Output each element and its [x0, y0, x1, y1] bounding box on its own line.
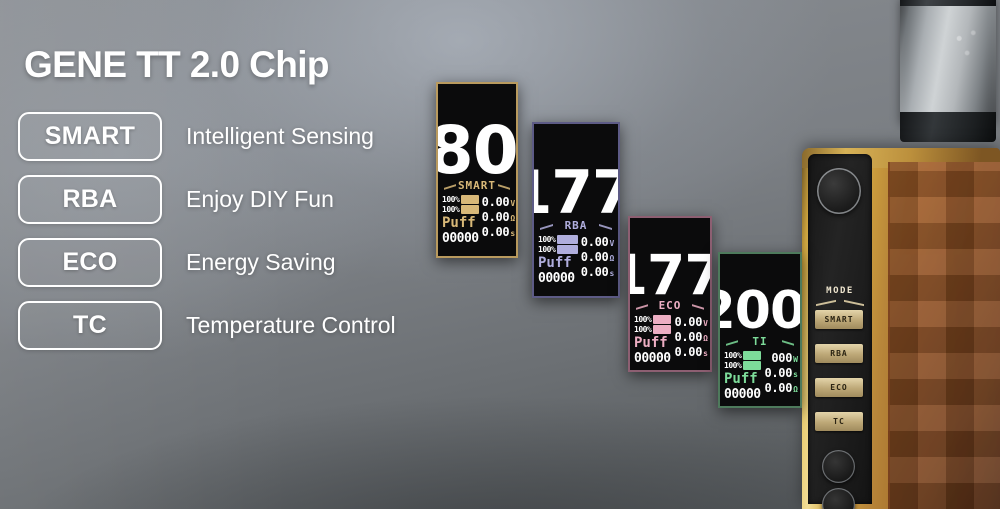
- battery-bar-bottom-rba: [557, 245, 577, 254]
- battery-pct-bottom-tc: 100%: [724, 361, 741, 370]
- feature-pill-eco[interactable]: ECO: [18, 238, 162, 287]
- battery-row-top-eco: 100%: [634, 315, 671, 324]
- readout-time-rba: 0.00s: [581, 265, 614, 279]
- readout-voltage-rba: 0.00V: [581, 235, 614, 249]
- feature-panel: GENE TT 2.0 Chip SMART Intelligent Sensi…: [18, 44, 488, 364]
- readout-voltage-smart: 0.00V: [482, 195, 515, 209]
- stats-tc: 100% 100% Puff 00000 000W 0.00s 0.00Ω: [720, 350, 800, 406]
- battery-pct-bottom-rba: 100%: [538, 245, 555, 254]
- battery-row-top-smart: 100%: [442, 195, 479, 204]
- readout-resistance-smart: 0.00Ω: [482, 210, 515, 224]
- battery-bar-top-tc: [743, 351, 761, 360]
- wattage-value-eco: 177: [628, 252, 712, 298]
- control-panel: MODE SMART RBA ECO TC: [808, 154, 872, 504]
- battery-pct-top-smart: 100%: [442, 195, 459, 204]
- wattage-area-eco: 177 W: [630, 218, 710, 298]
- mode-button-eco[interactable]: ECO: [815, 378, 863, 397]
- readout-voltage-eco: 0.00V: [674, 315, 707, 329]
- feature-desc-tc: Temperature Control: [186, 312, 396, 339]
- readout-power-tc: 000W: [771, 351, 797, 365]
- puff-count-smart: 00000: [442, 232, 479, 246]
- puff-count-rba: 00000: [538, 272, 578, 286]
- readout-resistance-eco: 0.00Ω: [674, 330, 707, 344]
- feature-desc-rba: Enjoy DIY Fun: [186, 186, 334, 213]
- feature-pill-tc[interactable]: TC: [18, 301, 162, 350]
- wattage-area-rba: 177 W: [534, 124, 618, 218]
- feature-row-tc: TC Temperature Control: [18, 301, 488, 350]
- feature-row-eco: ECO Energy Saving: [18, 238, 488, 287]
- device-screen-tc: 200 °F TI 100% 100% Puff 00000 000W 0.00…: [718, 252, 802, 408]
- mode-divider: [816, 300, 864, 306]
- device-body: VOOPOO MODE SMART RBA ECO TC: [802, 148, 1000, 509]
- feature-desc-eco: Energy Saving: [186, 249, 336, 276]
- temperature-area-tc: 200 °F: [720, 254, 800, 334]
- feature-desc-smart: Intelligent Sensing: [186, 123, 374, 150]
- battery-row-bottom-tc: 100%: [724, 361, 761, 370]
- feature-pill-smart[interactable]: SMART: [18, 112, 162, 161]
- device-screen-rba: 177 W RBA 100% 100% Puff 00000 0.00V 0.0…: [532, 122, 620, 298]
- readout-resistance-rba: 0.00Ω: [581, 250, 614, 264]
- tank-atomizer: [900, 0, 996, 122]
- page-title: GENE TT 2.0 Chip: [24, 44, 488, 86]
- battery-row-bottom-eco: 100%: [634, 325, 671, 334]
- battery-bar-bottom-smart: [461, 205, 478, 214]
- mode-button-rba[interactable]: RBA: [815, 344, 863, 363]
- puff-label-rba: Puff: [538, 256, 578, 271]
- feature-row-smart: SMART Intelligent Sensing: [18, 112, 488, 161]
- battery-bar-top-rba: [557, 235, 577, 244]
- puff-label-smart: Puff: [442, 216, 479, 231]
- device-screen-eco: 177 W ECO 100% 100% Puff 00000 0.00V 0.0…: [628, 216, 712, 372]
- battery-row-bottom-smart: 100%: [442, 205, 479, 214]
- stats-eco: 100% 100% Puff 00000 0.00V 0.00Ω 0.00s: [630, 314, 710, 370]
- device-screen-smart: 80 W SMART 100% 100% Puff 00000 0.00V 0.…: [436, 82, 518, 258]
- mode-banner-rba: RBA: [538, 219, 614, 232]
- readout-time-smart: 0.00s: [482, 225, 515, 239]
- fire-button[interactable]: [817, 168, 861, 214]
- readout-resistance-tc: 0.00Ω: [764, 381, 797, 395]
- promo-banner: GENE TT 2.0 Chip SMART Intelligent Sensi…: [0, 0, 1000, 509]
- battery-bar-top-smart: [461, 195, 478, 204]
- battery-row-top-tc: 100%: [724, 351, 761, 360]
- battery-bar-bottom-tc: [743, 361, 761, 370]
- mode-button-smart[interactable]: SMART: [815, 310, 863, 329]
- mode-banner-smart: SMART: [442, 179, 512, 192]
- battery-pct-top-tc: 100%: [724, 351, 741, 360]
- mode-button-tc[interactable]: TC: [815, 412, 863, 431]
- tank-etching-icon: [946, 16, 990, 72]
- adjust-up-button[interactable]: [822, 450, 855, 483]
- vape-device: VOOPOO MODE SMART RBA ECO TC: [800, 0, 1000, 509]
- feature-row-rba: RBA Enjoy DIY Fun: [18, 175, 488, 224]
- temperature-value-tc: 200: [718, 290, 802, 334]
- mode-banner-eco: ECO: [634, 299, 706, 312]
- resin-panel: [888, 162, 1000, 509]
- readout-time-tc: 0.00s: [764, 366, 797, 380]
- battery-row-top-rba: 100%: [538, 235, 578, 244]
- mode-banner-tc: TI: [724, 335, 796, 348]
- puff-label-tc: Puff: [724, 372, 761, 387]
- battery-row-bottom-rba: 100%: [538, 245, 578, 254]
- battery-bar-bottom-eco: [653, 325, 671, 334]
- battery-pct-bottom-smart: 100%: [442, 205, 459, 214]
- battery-pct-top-eco: 100%: [634, 315, 651, 324]
- mode-panel-label: MODE: [808, 286, 872, 296]
- battery-pct-bottom-eco: 100%: [634, 325, 651, 334]
- puff-count-eco: 00000: [634, 352, 671, 366]
- battery-pct-top-rba: 100%: [538, 235, 555, 244]
- readout-time-eco: 0.00s: [674, 345, 707, 359]
- wattage-area-smart: 80 W: [438, 84, 516, 178]
- adjust-down-button[interactable]: [822, 488, 855, 509]
- wattage-value-rba: 177: [532, 168, 620, 218]
- puff-label-eco: Puff: [634, 336, 671, 351]
- stats-rba: 100% 100% Puff 00000 0.00V 0.00Ω 0.00s: [534, 234, 618, 296]
- puff-count-tc: 00000: [724, 388, 761, 402]
- stats-smart: 100% 100% Puff 00000 0.00V 0.00Ω 0.00s: [438, 194, 516, 256]
- feature-pill-rba[interactable]: RBA: [18, 175, 162, 224]
- battery-bar-top-eco: [653, 315, 671, 324]
- wattage-value-smart: 80: [436, 123, 518, 178]
